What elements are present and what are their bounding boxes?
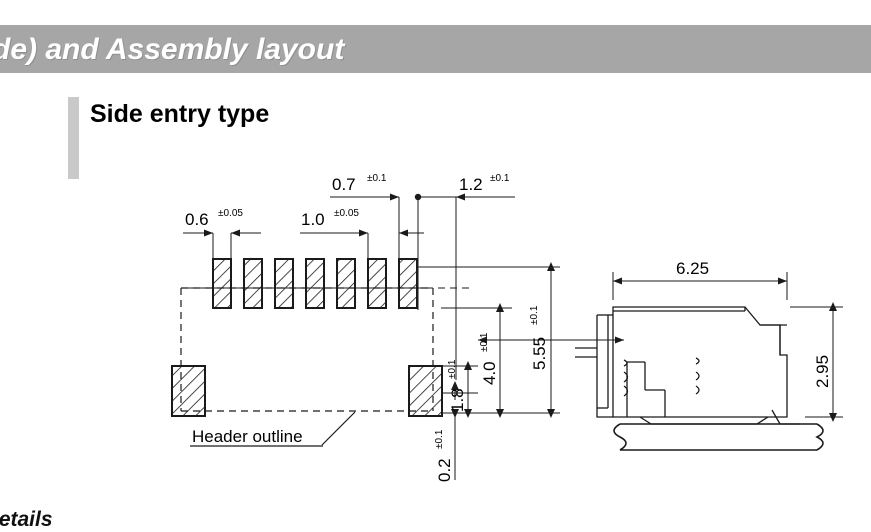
side-elevation-view (575, 307, 800, 424)
dim-label-1_0-value: 1.0 (301, 210, 325, 229)
dim-label-4_0-value: 4.0 (480, 361, 499, 385)
dim-label-1_2-value: 1.2 (459, 175, 483, 194)
pad-top-5 (337, 259, 355, 308)
pad-anchor-left (172, 366, 205, 416)
pad-top-4 (306, 259, 324, 308)
dim-label-0_6-tol: ±0.05 (218, 208, 243, 219)
pad-anchor-right (409, 366, 442, 416)
dim-label-5_55-tol: ±0.1 (529, 305, 540, 325)
header-outline-label: Header outline (192, 427, 303, 446)
dim-label-0_2-tol: ±0.1 (434, 429, 445, 449)
pcb-board (614, 424, 823, 450)
pad-row-top (213, 259, 417, 308)
pad-top-2 (244, 259, 262, 308)
dim-label-1_8-tol: ±0.1 (447, 359, 458, 379)
dim-label-2_95: 2.95 (813, 355, 832, 388)
dim-label-0_6-value: 0.6 (185, 210, 209, 229)
footer-partial-text: details (0, 508, 53, 532)
dim-label-5_55-value: 5.55 (530, 337, 549, 370)
dim-label-0_7-value: 0.7 (332, 175, 356, 194)
dim-label-0_7-tol: ±0.1 (367, 173, 387, 184)
dim-label-1_8-value: 1.8 (448, 388, 467, 412)
pad-top-1 (213, 259, 231, 308)
dim-label-1_2-tol: ±0.1 (490, 173, 510, 184)
dim-label-4_0-tol: ±0.1 (479, 332, 490, 352)
pad-top-7 (399, 259, 417, 308)
pad-top-3 (275, 259, 293, 308)
dim-label-0_2-value: 0.2 (435, 458, 454, 482)
technical-drawing: 0.6 ±0.05 1.0 ±0.05 0.7 ±0.1 1.2 ±0.1 5.… (0, 0, 871, 531)
dim-label-1_0-tol: ±0.05 (334, 208, 359, 219)
pad-top-6 (368, 259, 386, 308)
dim-label-6_25: 6.25 (676, 259, 709, 278)
